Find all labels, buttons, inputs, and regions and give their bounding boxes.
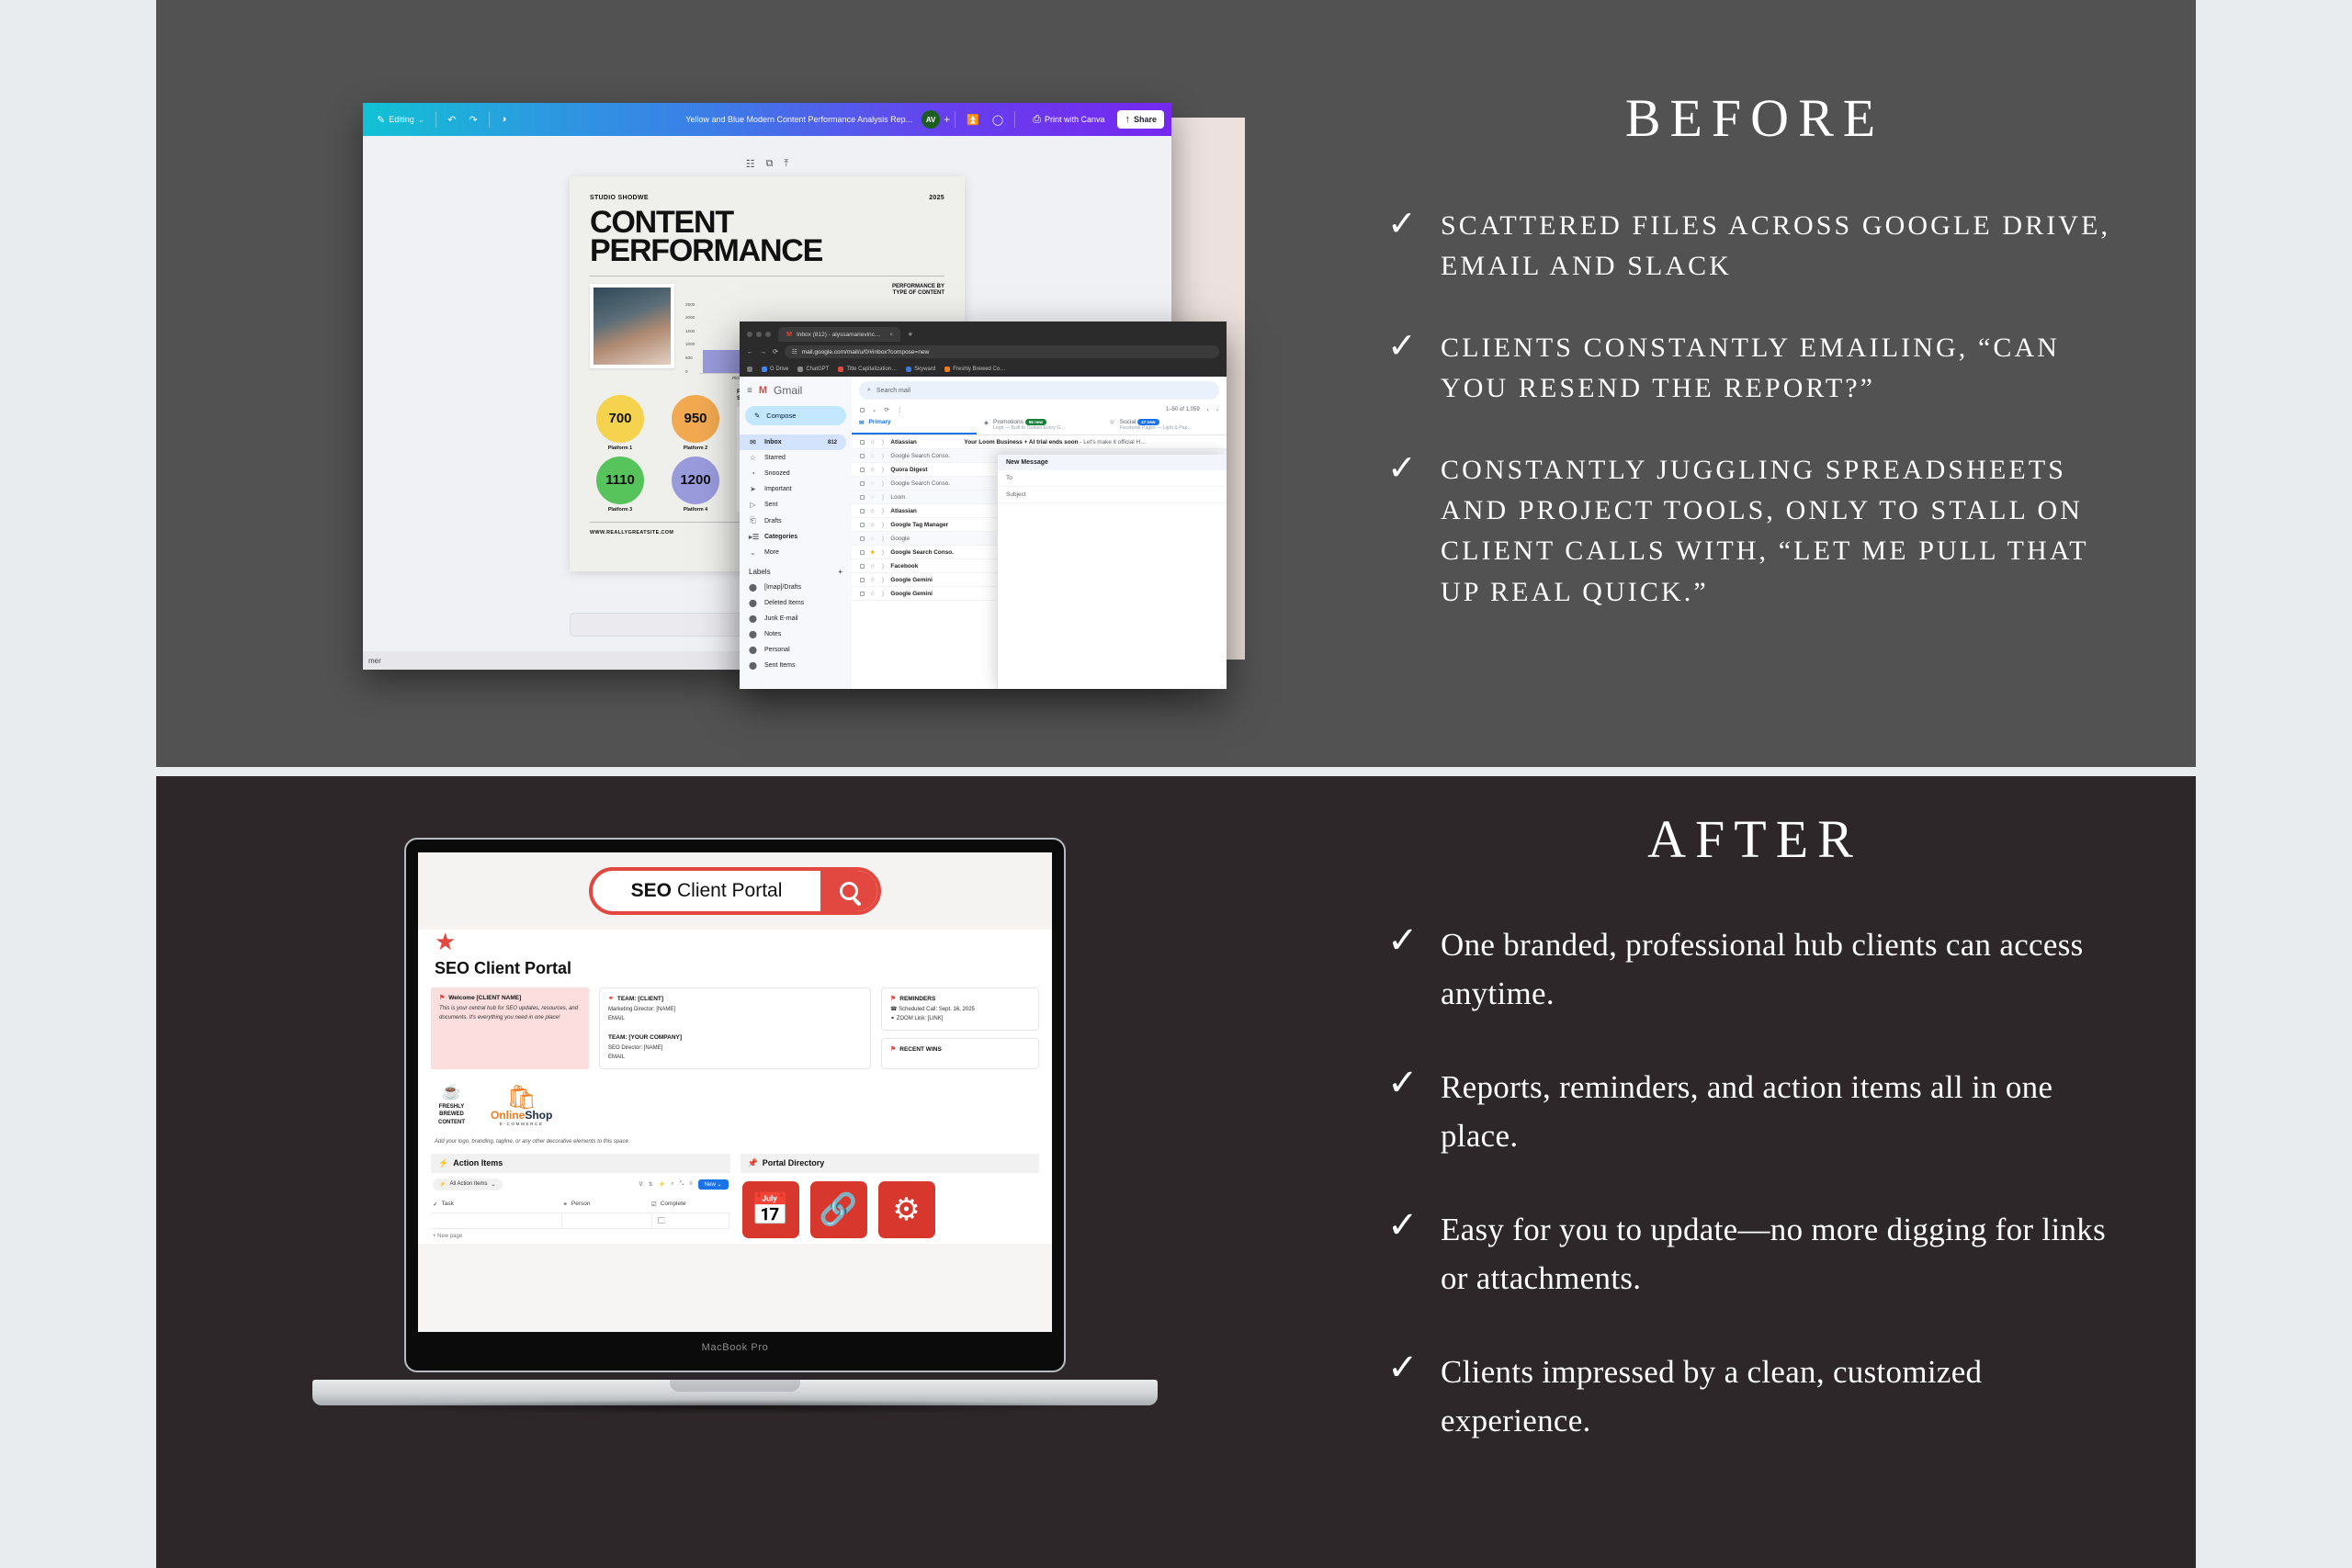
label-item[interactable]: ⬤Sent Items [740, 658, 846, 673]
back-icon[interactable]: ← [747, 349, 753, 355]
stat-item: 1200 Platform 4 [665, 457, 726, 513]
forward-icon[interactable]: → [760, 349, 766, 355]
pagination-range: 1–50 of 1,059 [1166, 407, 1200, 412]
close-window-button[interactable] [747, 332, 752, 337]
row-checkbox[interactable] [860, 509, 865, 513]
email-subject: Your Loom Business + AI trial ends soon … [964, 439, 1218, 446]
gmail-category-tabs[interactable]: ✉ Primary ◈ Promotions 66 new Legit — Bu… [852, 415, 1227, 435]
expand-icon[interactable]: ⤡ [679, 1181, 684, 1188]
action-items-header: ⚡ Action Items [431, 1154, 730, 1173]
coffee-logo-line: CONTENT [438, 1119, 465, 1126]
link-icon[interactable]: 🔗 [810, 1181, 867, 1238]
check-icon: ✓ [1387, 1348, 1419, 1387]
star-icon[interactable]: ☆ [870, 591, 875, 597]
chevron-down-icon[interactable]: ⌄ [872, 406, 876, 413]
after-bullet-list: ✓ One branded, professional hub clients … [1387, 921, 2122, 1445]
select-all-checkbox[interactable] [860, 408, 865, 412]
bookmark-item[interactable]: ChatGPT [797, 367, 829, 372]
row-checkbox[interactable] [860, 536, 865, 541]
stat-value: 700 [596, 395, 644, 443]
chevron-down-icon: ⌄ [418, 115, 425, 125]
welcome-card: ⚑ Welcome [CLIENT NAME] This is your cen… [431, 987, 589, 1069]
insights-button[interactable]: ⏫ [960, 114, 986, 126]
email-sender: Facebook [890, 563, 958, 570]
canva-toolbar[interactable]: ✎ Editing ⌄ ↶ ↷ ◑ Yellow and Blue Modern… [363, 103, 1171, 136]
divider [435, 111, 436, 128]
portal-search-banner[interactable]: SEO Client Portal [589, 867, 881, 915]
shop-name-second: Shop [525, 1109, 552, 1122]
cell-task[interactable] [431, 1213, 562, 1228]
comment-button[interactable]: ◯ [986, 114, 1010, 126]
automation-icon[interactable]: ⚡ [659, 1181, 665, 1188]
row-checkbox[interactable] [860, 468, 865, 472]
important-icon[interactable]: ❭ [880, 508, 885, 514]
new-page-button[interactable]: + New page [431, 1229, 730, 1244]
shopping-bag-icon: 🛍 [491, 1085, 552, 1109]
welcome-card-title: ⚑ Welcome [CLIENT NAME] [439, 994, 581, 1001]
macbook-shadow [349, 1400, 1121, 1415]
undo-button[interactable]: ↶ [441, 114, 462, 126]
important-icon[interactable]: ❭ [880, 480, 885, 487]
compose-pane[interactable]: New Message To Subject [997, 455, 1227, 689]
portal-logos: ☕ FRESHLY BREWED CONTENT 🛍 OnlineShop E-… [438, 1082, 1039, 1125]
inbox-icon: ✉ [859, 419, 864, 426]
editing-mode-button[interactable]: ✎ Editing ⌄ [370, 114, 431, 126]
important-icon[interactable]: ❭ [880, 453, 885, 459]
team-line: Marketing Director: [NAME] [608, 1006, 862, 1015]
chevron-down-icon: ⌄ [717, 1182, 721, 1188]
row-checkbox[interactable] [860, 454, 865, 458]
before-bullet-list: ✓ Scattered files across Google Drive, e… [1387, 206, 2122, 613]
sidebar-item-label: Sent [764, 502, 777, 508]
bookmark-item[interactable]: Skyward [906, 367, 935, 372]
email-sender: Google Gemini [890, 591, 958, 597]
row-checkbox[interactable] [860, 578, 865, 582]
sidebar-item-label: Inbox [764, 439, 782, 446]
tab-label: Promotions [993, 419, 1023, 425]
maximize-window-button[interactable] [765, 332, 771, 337]
after-copy-column: AFTER ✓ One branded, professional hub cl… [1387, 808, 2122, 1491]
lock-icon[interactable]: ☷ [746, 158, 755, 170]
gmail-app[interactable]: ≡ M Gmail ✎ Compose ✉ Inbox 812 [740, 377, 1227, 689]
row-checkbox[interactable] [860, 592, 865, 596]
bookmark-item[interactable]: Title Capitalization… [838, 367, 897, 372]
star-icon[interactable]: ☆ [870, 480, 875, 487]
email-sender: Loom [890, 494, 958, 501]
tab-primary[interactable]: ✉ Primary [852, 415, 977, 434]
label-item[interactable]: ⬤Junk E-mail [740, 611, 846, 626]
column-label: Complete [661, 1201, 686, 1207]
bookmark-label: Skyward [914, 367, 935, 372]
check-icon: ✓ [1387, 206, 1419, 243]
search-input[interactable]: ⌕ Search mail [859, 381, 1219, 400]
document-year: 2025 [929, 195, 944, 201]
row-checkbox[interactable] [860, 564, 865, 569]
bookmark-favicon-icon [906, 367, 911, 372]
team-company-title-text: TEAM: [YOUR COMPANY] [608, 1034, 682, 1041]
team-card: ⚭ TEAM: [CLIENT] Marketing Director: [NA… [599, 987, 871, 1069]
share-button[interactable]: ↑ Share [1117, 110, 1164, 129]
share-icon: ↑ [1125, 114, 1130, 125]
column-label: Task [441, 1201, 453, 1207]
sidebar-item-inbox[interactable]: ✉ Inbox 812 [740, 434, 846, 450]
pencil-icon: ✎ [754, 412, 760, 420]
redo-icon: ↷ [469, 114, 478, 126]
more-options-icon[interactable]: ⋮ [897, 406, 903, 413]
page-tools[interactable]: ☷ ⧉ ⤒ [746, 158, 789, 170]
action-items-title: Action Items [453, 1158, 503, 1168]
important-icon[interactable]: ❭ [880, 536, 885, 542]
close-icon[interactable]: × [889, 332, 893, 338]
sidebar-item-important[interactable]: ➤ Important [740, 481, 846, 497]
gmail-header: ≡ M Gmail [740, 382, 852, 404]
row-checkbox[interactable] [860, 440, 865, 445]
after-bullet-text: One branded, professional hub clients ca… [1441, 921, 2122, 1018]
browser-tab-title: Inbox (812) - alyssamarievinc… [797, 332, 880, 338]
gmail-favicon-icon: M [786, 331, 793, 338]
stat-value: 1110 [596, 457, 644, 504]
search-icon: ⌕ [867, 387, 871, 394]
bookmark-favicon-icon [797, 367, 803, 372]
tag-icon: ◈ [984, 419, 989, 426]
drafts-icon: ⎗ [749, 516, 757, 525]
coffee-logo: ☕ FRESHLY BREWED CONTENT [438, 1082, 465, 1125]
expand-icon[interactable]: ⤒ [784, 158, 788, 170]
minimize-window-button[interactable] [756, 332, 762, 337]
action-items-tools[interactable]: ∇ ⇅ ⚡ ⌕ ⤡ ≡ New ⌄ [639, 1179, 729, 1190]
stat-value: 1200 [672, 457, 719, 504]
label-item[interactable]: ⬤Personal [740, 642, 846, 658]
before-heading: BEFORE [1387, 87, 2122, 149]
browser-tab[interactable]: M Inbox (812) - alyssamarievinc… × [778, 327, 900, 342]
window-controls[interactable] [745, 332, 778, 342]
email-sender: Atlassian [890, 508, 958, 514]
checkbox-icon: ☑ [651, 1201, 657, 1208]
y-tick: 0 [685, 369, 695, 374]
compose-to-field[interactable]: To [998, 470, 1227, 487]
sidebar-item-categories[interactable]: ▸☰ Categories [740, 529, 846, 545]
macbook-notch [670, 1380, 800, 1392]
sidebar-item-starred[interactable]: ☆ Starred [740, 450, 846, 466]
email-sender: Google Search Conso. [890, 480, 958, 487]
stat-value: 950 [672, 395, 719, 443]
portal-right-column: ⚑ REMINDERS ☎ Scheduled Call: Sept. 16, … [881, 987, 1039, 1069]
label-text: Junk E-mail [764, 615, 798, 622]
recent-wins-card: ⚑ RECENT WINS [881, 1038, 1039, 1069]
before-bullet-text: Clients constantly emailing, “Can you re… [1441, 328, 2122, 410]
label-text: [Imap]/Drafts [764, 584, 801, 591]
insights-icon: ⏫ [967, 114, 979, 126]
cell-person[interactable] [562, 1213, 652, 1228]
new-tab-icon[interactable]: + [908, 330, 912, 342]
sidebar-item-drafts[interactable]: ⎗ Drafts [740, 513, 846, 529]
bookmark-item[interactable]: G Drive [762, 367, 788, 372]
add-person-icon[interactable]: + [944, 113, 950, 126]
portal-search-text: SEO Client Portal [593, 871, 820, 911]
important-icon[interactable]: ❭ [880, 439, 885, 446]
stat-label: Platform 4 [665, 507, 726, 513]
important-icon[interactable]: ❭ [880, 522, 885, 528]
sidebar-item-more[interactable]: ⌄ More [740, 545, 846, 560]
stat-item: 950 Platform 2 [665, 395, 726, 451]
before-bullet-item: ✓ Scattered files across Google Drive, e… [1387, 206, 2122, 288]
bookmark-label: Freshly Brewed Co… [953, 367, 1005, 372]
gmail-logo-icon: M [759, 385, 767, 396]
add-label-icon[interactable]: + [838, 568, 842, 576]
bookmark-label: ChatGPT [806, 367, 829, 372]
redo-button[interactable]: ↷ [463, 114, 484, 126]
shop-logo-sub: E-COMMERCE [491, 1122, 552, 1126]
star-icon[interactable]: ☆ [870, 494, 875, 501]
portal-directory-header: 📌 Portal Directory [741, 1154, 1040, 1173]
team-line: SEO Director: [NAME] [608, 1044, 862, 1054]
important-icon[interactable]: ❭ [880, 467, 885, 473]
action-items-panel: ⚡ Action Items ⚡ All Action Items ⌄ [431, 1154, 730, 1244]
star-icon[interactable]: ★ [870, 549, 875, 556]
shop-logo-name: OnlineShop [491, 1109, 552, 1122]
refresh-icon[interactable]: ⟳ [884, 406, 888, 413]
star-icon[interactable]: ☆ [870, 522, 875, 528]
lightning-icon: ⚡ [439, 1181, 446, 1188]
status-text: mer [368, 657, 381, 665]
lightning-icon: ⚡ [438, 1158, 448, 1168]
bookmark-item[interactable]: Freshly Brewed Co… [944, 367, 1005, 372]
star-icon[interactable]: ☆ [870, 563, 875, 570]
row-checkbox[interactable] [860, 523, 865, 527]
stat-label: Platform 1 [590, 446, 650, 451]
bookmark-label: Title Capitalization… [846, 367, 897, 372]
stat-item: 1110 Platform 3 [590, 457, 650, 513]
labels-header: Labels + [740, 560, 852, 580]
gmail-sidebar[interactable]: ≡ M Gmail ✎ Compose ✉ Inbox 812 [740, 377, 852, 689]
email-sender: Google Search Conso. [890, 453, 958, 459]
reminders-title-text: REMINDERS [899, 996, 935, 1002]
y-tick: 1000 [685, 342, 695, 346]
star-icon[interactable]: ☆ [870, 536, 875, 542]
divider [489, 111, 490, 128]
after-bullet-item: ✓ One branded, professional hub clients … [1387, 921, 2122, 1018]
document-title-line2: PERFORMANCE [590, 237, 944, 265]
label-icon: ⬤ [749, 599, 757, 607]
gmail-toolbar[interactable]: ⌄ ⟳ ⋮ 1–50 of 1,059 ‹ › [852, 404, 1227, 415]
email-sender: Atlassian [890, 439, 958, 446]
paint-icon: ◑ [501, 114, 507, 125]
portal-body: ★ SEO Client Portal ⚑ Welcome [CLIENT NA… [418, 930, 1052, 1244]
sidebar-item-sent[interactable]: ▷ Sent [740, 497, 846, 513]
after-bullet-item: ✓ Reports, reminders, and action items a… [1387, 1064, 2122, 1160]
reminder-line: ⚭ ZOOM Link: [LINK] [890, 1015, 1030, 1024]
team-company-title: TEAM: [YOUR COMPANY] [608, 1034, 862, 1041]
email-sender: Google [890, 536, 958, 542]
email-row-featured[interactable]: ☆ ❭ Atlassian Your Loom Business + AI tr… [852, 435, 1227, 449]
sidebar-item-label: Snoozed [764, 470, 790, 477]
star-icon[interactable]: ☆ [870, 467, 875, 473]
email-sender: Google Gemini [890, 577, 958, 583]
label-item[interactable]: ⬤[Imap]/Drafts [740, 580, 846, 595]
inbox-icon: ✉ [749, 438, 757, 446]
reminders-title: ⚑ REMINDERS [890, 995, 1030, 1002]
compose-button[interactable]: ✎ Compose [745, 406, 846, 425]
label-text: Notes [764, 631, 781, 637]
check-icon: ✓ [433, 1201, 437, 1208]
print-icon: ⎙ [1033, 114, 1041, 126]
label-item[interactable]: ⬤Deleted Items [740, 595, 846, 611]
y-tick: 2000 [685, 315, 695, 320]
tab-subtitle: Facebook Pages — Light & Pap… [1120, 425, 1193, 431]
check-icon: ✓ [1387, 1206, 1419, 1245]
complete-checkbox[interactable] [658, 1217, 665, 1224]
before-visual-group: ✎ Editing ⌄ ↶ ↷ ◑ Yellow and Blue Modern… [363, 103, 1227, 691]
inbox-count: 812 [828, 440, 837, 446]
important-icon[interactable]: ❭ [880, 563, 885, 570]
compose-title: New Message [998, 455, 1227, 470]
row-checkbox[interactable] [860, 495, 865, 500]
table-row[interactable] [431, 1213, 730, 1229]
bookmark-favicon-icon [762, 367, 767, 372]
label-icon: ⬤ [749, 615, 757, 623]
star-icon[interactable]: ☆ [870, 439, 875, 446]
page-title: SEO Client Portal [435, 959, 1039, 978]
bookmark-icon: ⚑ [439, 994, 445, 1001]
sidebar-item-label: Important [764, 486, 792, 492]
photo-image [594, 288, 671, 365]
email-snippet: - Let's make it official H… [1080, 439, 1146, 446]
gmail-labels-list[interactable]: ⬤[Imap]/Drafts ⬤Deleted Items ⬤Junk E-ma… [740, 580, 852, 673]
browser-omnibox-bar[interactable]: ← → ⟳ ☷ mail.google.com/mail/u/0/#inbox?… [740, 342, 1227, 362]
team-line: EMAIL [608, 1054, 862, 1063]
star-icon[interactable]: ☆ [870, 508, 875, 514]
search-icon[interactable]: ⌕ [671, 1181, 673, 1188]
undo-icon: ↶ [447, 114, 456, 126]
important-icon[interactable]: ❭ [880, 494, 885, 501]
row-checkbox[interactable] [860, 481, 865, 486]
reminders-card: ⚑ REMINDERS ☎ Scheduled Call: Sept. 16, … [881, 987, 1039, 1031]
sort-icon[interactable]: ⇅ [649, 1181, 653, 1188]
portal-hint-text: Add your logo, branding, tagline, or any… [435, 1139, 1039, 1145]
reminder-line: ☎ Scheduled Call: Sept. 16, 2025 [890, 1006, 1030, 1015]
url-text: mail.google.com/mail/u/0/#inbox?compose=… [802, 349, 930, 355]
portal-search-bold: SEO [631, 880, 672, 902]
search-button[interactable] [820, 871, 877, 911]
action-items-filter[interactable]: ⚡ All Action Items ⌄ [433, 1179, 503, 1190]
label-icon: ⬤ [749, 583, 757, 592]
bell-icon: ⚑ [890, 995, 896, 1002]
tab-social[interactable]: ☺ Social 47 new Facebook Pages — Light &… [1102, 415, 1227, 434]
portal-hero: SEO Client Portal [418, 852, 1052, 926]
star-icon[interactable]: ☆ [870, 453, 875, 459]
tab-subtitle: Legit — Built to Outlast Every G… [993, 425, 1065, 431]
recent-wins-title: ⚑ RECENT WINS [890, 1045, 1030, 1053]
new-row-button[interactable]: New ⌄ [698, 1179, 729, 1190]
clock-icon: ◔ [749, 469, 757, 478]
after-heading: AFTER [1387, 808, 2122, 870]
online-shop-logo: 🛍 OnlineShop E-COMMERCE [491, 1085, 552, 1126]
macbook-screen[interactable]: SEO Client Portal ★ SEO Client Portal [418, 852, 1052, 1332]
macbook-chin-label: MacBook Pro [418, 1332, 1052, 1363]
compose-subject-field[interactable]: Subject [998, 487, 1227, 503]
gear-icon[interactable]: ⚙ [878, 1181, 935, 1238]
y-tick: 2500 [685, 302, 695, 307]
calendar-icon[interactable]: 📅 [742, 1181, 799, 1238]
check-icon: ✓ [1387, 450, 1419, 487]
star-icon: ☆ [749, 454, 757, 462]
divider [590, 276, 944, 276]
menu-icon[interactable]: ≡ [747, 386, 752, 396]
star-icon[interactable]: ☆ [870, 577, 875, 583]
before-copy-column: BEFORE ✓ Scattered files across Google D… [1387, 87, 2122, 653]
apps-shortcut[interactable] [747, 367, 752, 372]
chrome-browser-window[interactable]: M Inbox (812) - alyssamarievinc… × + ← →… [740, 321, 1227, 689]
list-icon[interactable]: ≡ [689, 1181, 693, 1187]
tab-promotions[interactable]: ◈ Promotions 66 new Legit — Built to Out… [977, 415, 1102, 434]
pencil-icon: ✎ [377, 114, 385, 126]
new-label: New [705, 1182, 716, 1188]
macbook-mockup: SEO Client Portal ★ SEO Client Portal [312, 838, 1158, 1407]
browser-tab-bar[interactable]: M Inbox (812) - alyssamarievinc… × + [740, 321, 1227, 342]
categories-icon: ▸☰ [749, 533, 757, 541]
labels-title: Labels [749, 568, 771, 576]
email-sender: Quora Digest [890, 467, 958, 473]
chart-caption-line1: PERFORMANCE BY [685, 284, 944, 291]
gmail-main[interactable]: ⌕ Search mail ⌄ ⟳ ⋮ 1–50 of 1,059 ‹ › [852, 377, 1227, 689]
y-tick: 500 [685, 355, 695, 360]
after-bullet-item: ✓ Easy for you to update—no more digging… [1387, 1206, 2122, 1303]
bookmark-label: G Drive [770, 367, 788, 372]
pin-icon: ⚑ [890, 1045, 896, 1053]
important-icon[interactable]: ❭ [880, 577, 885, 583]
person-icon: ⚭ [608, 995, 614, 1002]
label-item[interactable]: ⬤Notes [740, 626, 846, 642]
sidebar-item-snoozed[interactable]: ◔ Snoozed [740, 466, 846, 481]
recent-wins-title-text: RECENT WINS [899, 1046, 942, 1053]
duplicate-icon[interactable]: ⧉ [766, 158, 774, 170]
gmail-nav-list[interactable]: ✉ Inbox 812 ☆ Starred ◔ Snoozed [740, 434, 852, 560]
comparison-graphic: ✎ Editing ⌄ ↶ ↷ ◑ Yellow and Blue Modern… [0, 0, 2352, 1568]
search-icon [840, 882, 858, 900]
chart-caption: PERFORMANCE BY TYPE OF CONTENT [685, 284, 944, 298]
next-page-icon[interactable]: › [1216, 407, 1218, 413]
team-client-lines: Marketing Director: [NAME] EMAIL [608, 1006, 862, 1023]
important-icon[interactable]: ❭ [880, 549, 885, 556]
site-info-icon[interactable]: ☷ [792, 348, 797, 355]
paint-button[interactable]: ◑ [494, 114, 514, 125]
filter-icon[interactable]: ∇ [639, 1181, 643, 1188]
column-header-complete: ☑ Complete [651, 1201, 729, 1208]
studio-name: STUDIO SHODWE [590, 195, 649, 201]
bookmarks-bar[interactable]: G Drive ChatGPT Title Capitalization… Sk… [740, 362, 1227, 377]
important-icon[interactable]: ❭ [880, 591, 885, 597]
avatar[interactable]: AV [922, 110, 940, 129]
document-title: CONTENT PERFORMANCE [590, 209, 944, 266]
people-icon: ☺ [1109, 419, 1115, 425]
sidebar-item-label: Drafts [764, 518, 782, 525]
chart-caption-line2: TYPE OF CONTENT [685, 290, 944, 298]
check-icon: ✓ [1387, 328, 1419, 365]
after-bullet-text: Easy for you to update—no more digging f… [1441, 1206, 2122, 1303]
print-with-canva-button[interactable]: ⎙ Print with Canva [1025, 110, 1112, 130]
row-checkbox[interactable] [860, 550, 865, 555]
portal-directory-tiles[interactable]: 📅 🔗 ⚙ [741, 1173, 1040, 1238]
filter-label: All Action Items [449, 1181, 487, 1187]
after-bullet-text: Clients impressed by a clean, customized… [1441, 1348, 2122, 1445]
reload-icon[interactable]: ⟳ [773, 348, 778, 355]
address-bar[interactable]: ☷ mail.google.com/mail/u/0/#inbox?compos… [785, 345, 1219, 358]
editing-label: Editing [389, 115, 414, 124]
portal-directory-title: Portal Directory [763, 1158, 825, 1168]
prev-page-icon[interactable]: ‹ [1207, 407, 1209, 413]
label-icon: ⬤ [749, 646, 757, 654]
cell-complete[interactable] [652, 1213, 730, 1228]
